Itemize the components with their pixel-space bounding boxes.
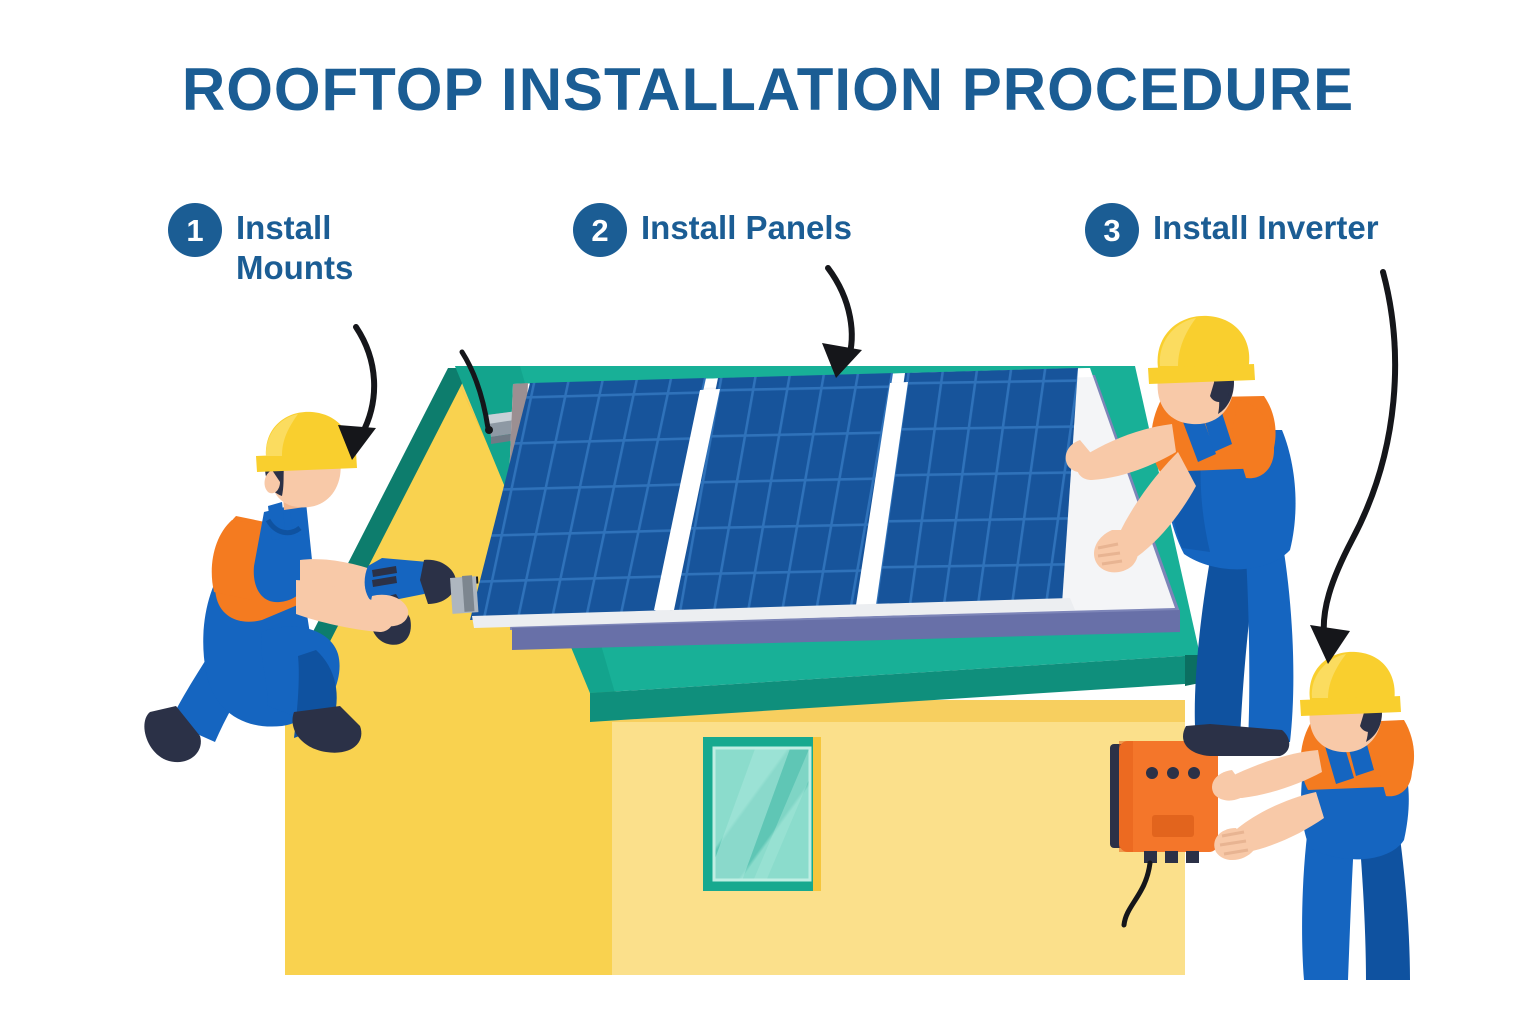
scene-illustration	[0, 0, 1536, 1024]
house-gable-wall	[285, 375, 620, 975]
mount-rail-bottom	[598, 583, 650, 618]
step-2-badge: 2	[573, 203, 627, 257]
mount-rail-top	[487, 409, 537, 444]
power-drill	[365, 558, 479, 645]
inverter	[1110, 741, 1218, 925]
house-window	[700, 735, 828, 900]
step-1-badge: 1	[168, 203, 222, 257]
house	[278, 366, 1200, 975]
step-2-label: Install Panels	[641, 203, 852, 248]
solar-panel-2	[577, 342, 1057, 681]
inverter-connectors	[1144, 851, 1199, 863]
worker-mounts	[144, 412, 478, 762]
page-title: ROOFTOP INSTALLATION PROCEDURE	[0, 58, 1536, 121]
step-1-label: Install Mounts	[236, 203, 353, 289]
arrow-step-2-icon	[822, 268, 862, 378]
worker-panels	[1066, 316, 1296, 756]
step-2: 2 Install Panels	[573, 203, 953, 257]
arrow-roof-ridge-icon	[462, 352, 493, 434]
inverter-cable	[1124, 863, 1150, 925]
solar-panel-3	[775, 337, 1242, 674]
house-roof	[278, 366, 1200, 722]
step-3-badge: 3	[1085, 203, 1139, 257]
worker-inverter	[1212, 652, 1414, 980]
inverter-indicator-lights	[1146, 767, 1200, 779]
mounting-rails	[487, 409, 650, 618]
arrow-step-3-icon	[1310, 272, 1395, 664]
infographic-canvas: ROOFTOP INSTALLATION PROCEDURE 1 Install…	[0, 0, 1536, 1024]
inverter-display	[1152, 815, 1194, 837]
house-front-wall	[608, 700, 1185, 975]
step-1: 1 Install Mounts	[168, 203, 428, 289]
step-3: 3 Install Inverter	[1085, 203, 1505, 257]
step-arrows	[338, 268, 1395, 664]
solar-panel-1	[378, 347, 871, 689]
step-3-label: Install Inverter	[1153, 203, 1379, 248]
solar-panel-array	[378, 337, 1243, 689]
arrow-step-1-icon	[338, 327, 376, 460]
